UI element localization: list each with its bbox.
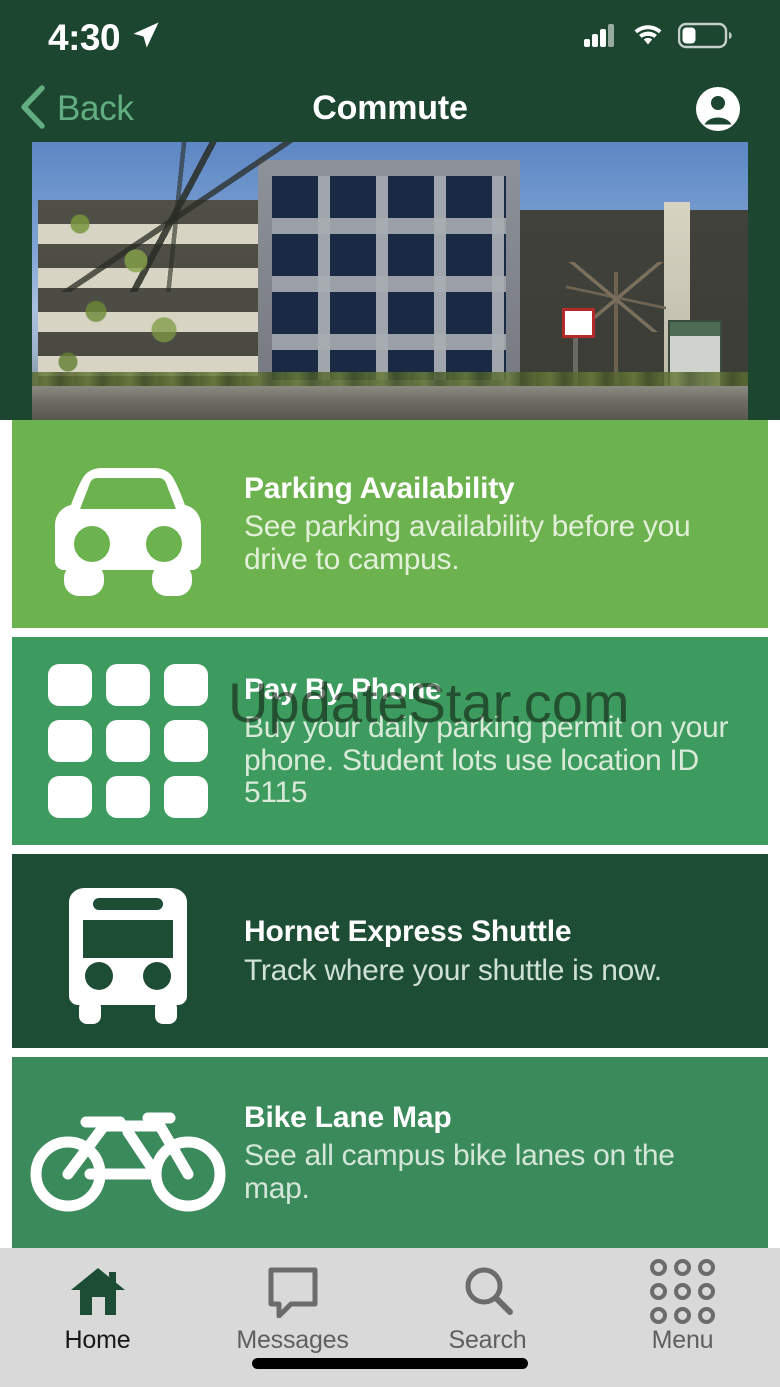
back-button-label: Back — [57, 89, 134, 129]
tab-menu-label: Menu — [652, 1326, 714, 1355]
tab-messages-label: Messages — [236, 1326, 348, 1355]
tab-home[interactable]: Home — [0, 1262, 195, 1355]
card-description: See all campus bike lanes on the map. — [244, 1140, 742, 1205]
status-clock: 4:30 — [48, 19, 120, 56]
tab-search-label: Search — [448, 1326, 526, 1355]
cellular-signal-icon — [584, 23, 618, 52]
tab-search[interactable]: Search — [390, 1262, 585, 1355]
status-bar-right — [584, 22, 734, 54]
card-text: Hornet Express Shuttle Track where your … — [244, 915, 688, 987]
card-text: Parking Availability See parking availab… — [244, 472, 768, 576]
tab-home-label: Home — [65, 1326, 131, 1355]
card-hornet-express-shuttle[interactable]: Hornet Express Shuttle Track where your … — [12, 854, 768, 1048]
hero-image-container — [0, 142, 780, 420]
status-bar: 4:30 — [0, 0, 780, 75]
search-icon — [460, 1262, 516, 1320]
tab-messages[interactable]: Messages — [195, 1262, 390, 1355]
card-description: Track where your shuttle is now. — [244, 955, 662, 987]
account-circle-icon[interactable] — [694, 85, 742, 133]
back-button[interactable]: Back — [18, 84, 134, 133]
card-title: Hornet Express Shuttle — [244, 915, 662, 950]
keypad-grid-icon — [12, 664, 244, 818]
card-text: Bike Lane Map See all campus bike lanes … — [244, 1101, 768, 1205]
location-arrow-icon — [131, 20, 161, 55]
card-text: Pay By Phone Buy your daily parking perm… — [244, 673, 768, 810]
battery-low-icon — [678, 22, 734, 54]
card-pay-by-phone[interactable]: Pay By Phone Buy your daily parking perm… — [12, 637, 768, 845]
home-icon — [69, 1262, 127, 1320]
grid-dots-icon — [650, 1262, 715, 1320]
commute-card-list: Parking Availability See parking availab… — [0, 420, 780, 1249]
navigation-bar: Back Commute — [0, 75, 780, 142]
car-front-icon — [12, 449, 244, 599]
chevron-left-icon — [18, 84, 48, 133]
bus-front-icon — [12, 876, 244, 1026]
status-bar-left: 4:30 — [48, 19, 161, 56]
home-indicator[interactable] — [252, 1358, 528, 1369]
street-ground — [32, 386, 748, 420]
message-bubble-icon — [265, 1262, 321, 1320]
card-title: Bike Lane Map — [244, 1101, 742, 1136]
wifi-icon — [632, 23, 664, 52]
card-parking-availability[interactable]: Parking Availability See parking availab… — [12, 420, 768, 628]
parking-garage-photo — [32, 142, 748, 420]
card-title: Pay By Phone — [244, 673, 742, 708]
bicycle-icon — [12, 1088, 244, 1218]
card-description: Buy your daily parking permit on your ph… — [244, 712, 742, 809]
card-bike-lane-map[interactable]: Bike Lane Map See all campus bike lanes … — [12, 1057, 768, 1249]
tab-menu[interactable]: Menu — [585, 1262, 780, 1355]
bottom-tab-bar: Home Messages Search Menu — [0, 1248, 780, 1387]
card-description: See parking availability before you driv… — [244, 511, 742, 576]
card-title: Parking Availability — [244, 472, 742, 507]
